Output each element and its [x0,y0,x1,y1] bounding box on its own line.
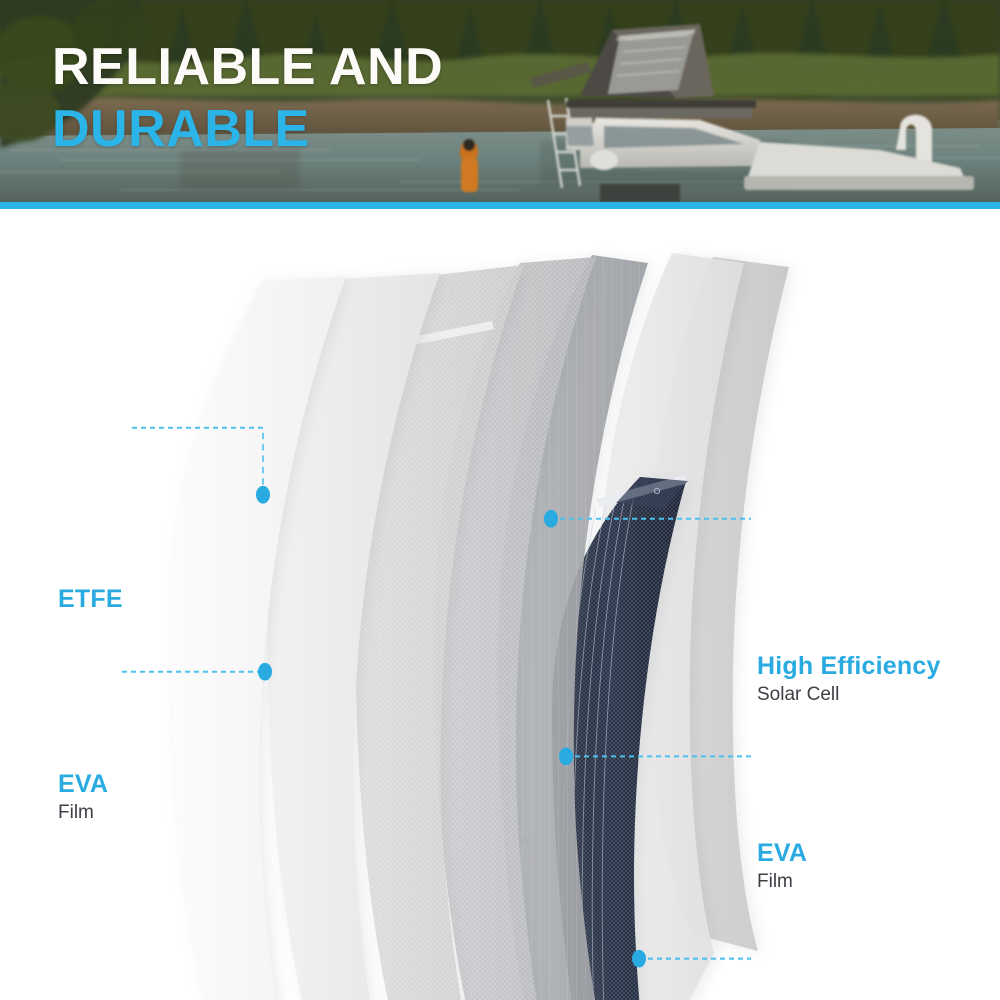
callout-etfe: ETFE [58,584,123,614]
hero-title-line-2: DURABLE [52,98,443,160]
callout-eva-right-title: EVA [757,838,807,868]
hero-title-line-1: RELIABLE AND [52,36,443,98]
callout-eva-right-subtitle: Film [757,868,807,895]
callout-eva-left: EVA Film [58,769,108,826]
callout-high-efficiency: High Efficiency Solar Cell [757,651,941,708]
callout-eva-left-subtitle: Film [58,799,108,826]
callout-etfe-title: ETFE [58,584,123,614]
layer-diagram: ETFE EVA Film High Efficiency Solar Cell… [0,209,1000,1000]
callout-eva-right: EVA Film [757,838,807,895]
callout-high-efficiency-title: High Efficiency [757,651,941,681]
callout-eva-left-title: EVA [58,769,108,799]
accent-divider-bar [0,202,1000,209]
hero-title: RELIABLE AND DURABLE [52,36,443,160]
hero-banner: RELIABLE AND DURABLE [0,0,1000,202]
product-feature-panel: RELIABLE AND DURABLE [0,0,1000,1000]
exploded-layer-stack [0,209,1000,1000]
callout-high-efficiency-subtitle: Solar Cell [757,681,941,708]
